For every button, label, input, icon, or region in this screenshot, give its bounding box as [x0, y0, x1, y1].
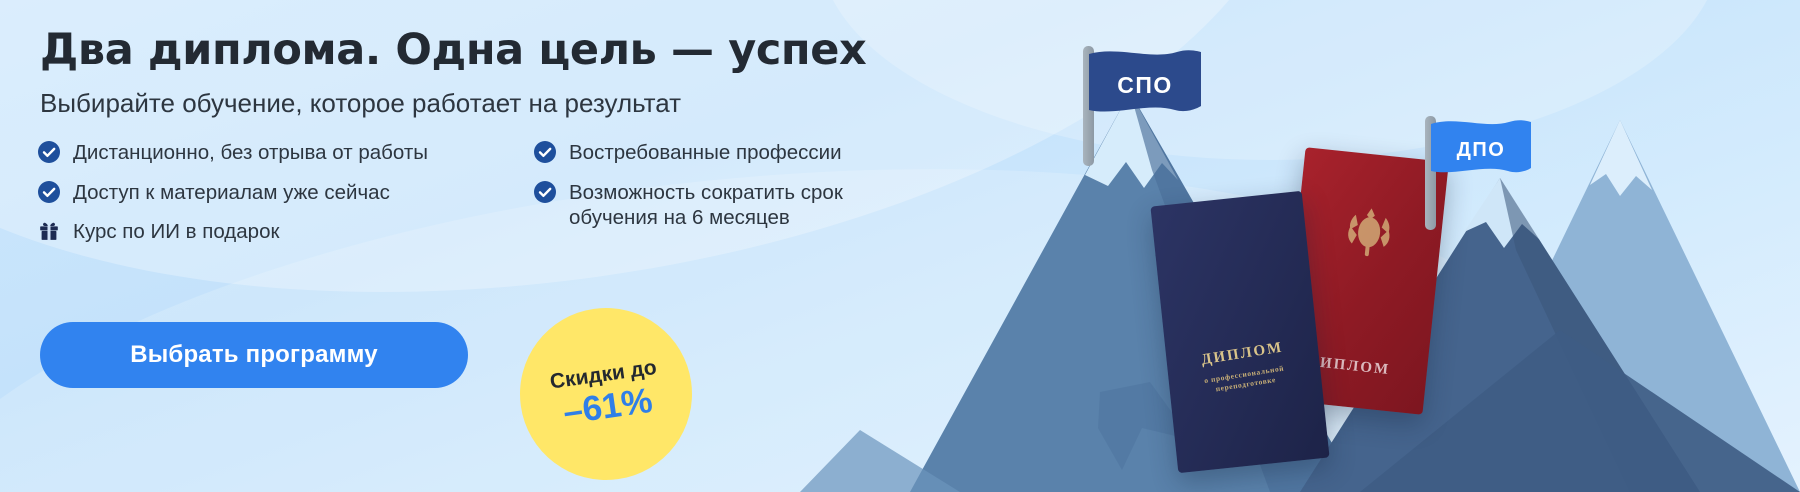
promo-banner: СПО ДПО ИПЛОМ: [0, 0, 1800, 492]
benefit-item: Курс по ИИ в подарок: [38, 218, 518, 245]
benefit-text: Доступ к материалам уже сейчас: [73, 179, 390, 206]
choose-program-button[interactable]: Выбрать программу: [40, 322, 468, 388]
check-circle-icon: [38, 181, 60, 203]
benefits-column-left: Дистанционно, без отрыва от работы Досту…: [38, 139, 518, 245]
check-circle-icon: [534, 141, 556, 163]
flag-dpo: ДПО: [1420, 108, 1550, 230]
headline: Два диплома. Одна цель — успех: [40, 26, 968, 74]
benefits-column-right: Востребованные профессии Возможность сок…: [534, 139, 934, 245]
check-circle-icon: [38, 141, 60, 163]
benefit-text: Возможность сократить срок обучения на 6…: [569, 179, 934, 231]
discount-badge: Скидки до –61%: [509, 297, 703, 491]
benefit-text: Востребованные профессии: [569, 139, 842, 166]
benefit-text: Дистанционно, без отрыва от работы: [73, 139, 428, 166]
russian-coat-of-arms-icon: [1337, 195, 1401, 263]
check-circle-icon: [534, 181, 556, 203]
benefits-list: Дистанционно, без отрыва от работы Досту…: [38, 139, 968, 245]
flag-cloth: СПО: [1089, 50, 1201, 120]
benefit-item: Доступ к материалам уже сейчас: [38, 179, 518, 206]
banner-content: Два диплома. Одна цель — успех Выбирайте…: [38, 26, 968, 245]
flag-cloth: ДПО: [1431, 120, 1531, 180]
flag-label: СПО: [1117, 72, 1173, 99]
benefit-text: Курс по ИИ в подарок: [73, 218, 279, 245]
diploma-navy: ДИПЛОМ о профессиональной переподготовке: [1150, 191, 1329, 473]
benefit-item: Востребованные профессии: [534, 139, 934, 166]
flag-label: ДПО: [1457, 139, 1506, 162]
flag-spo: СПО: [1078, 36, 1218, 166]
gift-icon: [38, 220, 60, 242]
benefit-item: Возможность сократить срок обучения на 6…: [534, 179, 934, 231]
subheadline: Выбирайте обучение, которое работает на …: [40, 88, 968, 119]
benefit-item: Дистанционно, без отрыва от работы: [38, 139, 518, 166]
